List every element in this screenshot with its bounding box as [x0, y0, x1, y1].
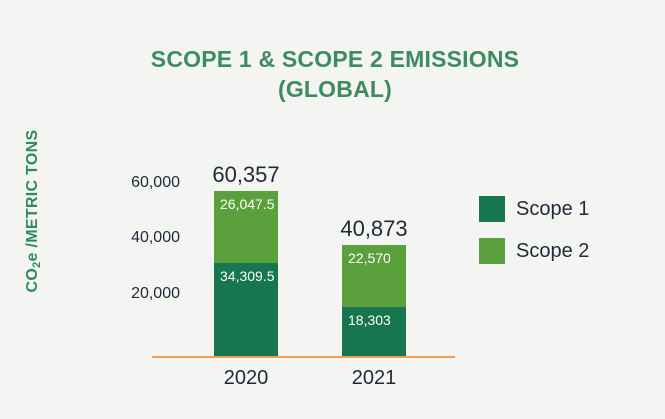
bar-segment-label-2021-scope-2: 22,570 — [348, 250, 391, 266]
bar-segment-2021-scope-1[interactable]: 18,303 — [342, 307, 406, 356]
bar-segment-label-2020-scope-2: 26,047.5 — [220, 196, 275, 212]
legend-item-scope-1[interactable]: Scope 1 — [479, 193, 589, 225]
y-tick-label-20000: 20,000 — [108, 286, 180, 302]
bar-segment-label-2020-scope-1: 34,309.5 — [220, 268, 275, 284]
bar-segment-2021-scope-2[interactable]: 22,570 — [342, 245, 406, 307]
x-category-label-2020: 2020 — [176, 367, 316, 389]
emissions-chart: SCOPE 1 & SCOPE 2 EMISSIONS (GLOBAL) CO2… — [0, 0, 665, 419]
legend-label-scope-1: Scope 1 — [516, 198, 589, 220]
bar-total-2021: 40,873 — [304, 217, 444, 241]
bar-segment-2020-scope-1[interactable]: 34,309.5 — [214, 263, 278, 356]
x-category-label-2021: 2021 — [304, 367, 444, 389]
legend-swatch-scope-1-icon — [479, 196, 505, 222]
chart-legend: Scope 1 Scope 2 — [479, 193, 589, 277]
legend-item-scope-2[interactable]: Scope 2 — [479, 235, 589, 267]
y-tick-label-60000: 60,000 — [108, 175, 180, 191]
bar-segment-label-2021-scope-1: 18,303 — [348, 312, 391, 328]
bar-segment-2020-scope-2[interactable]: 26,047.5 — [214, 191, 278, 263]
legend-swatch-scope-2-icon — [479, 238, 505, 264]
x-axis-baseline — [152, 356, 455, 358]
bar-total-2020: 60,357 — [176, 163, 316, 187]
y-tick-label-40000: 40,000 — [108, 230, 180, 246]
legend-label-scope-2: Scope 2 — [516, 240, 589, 262]
